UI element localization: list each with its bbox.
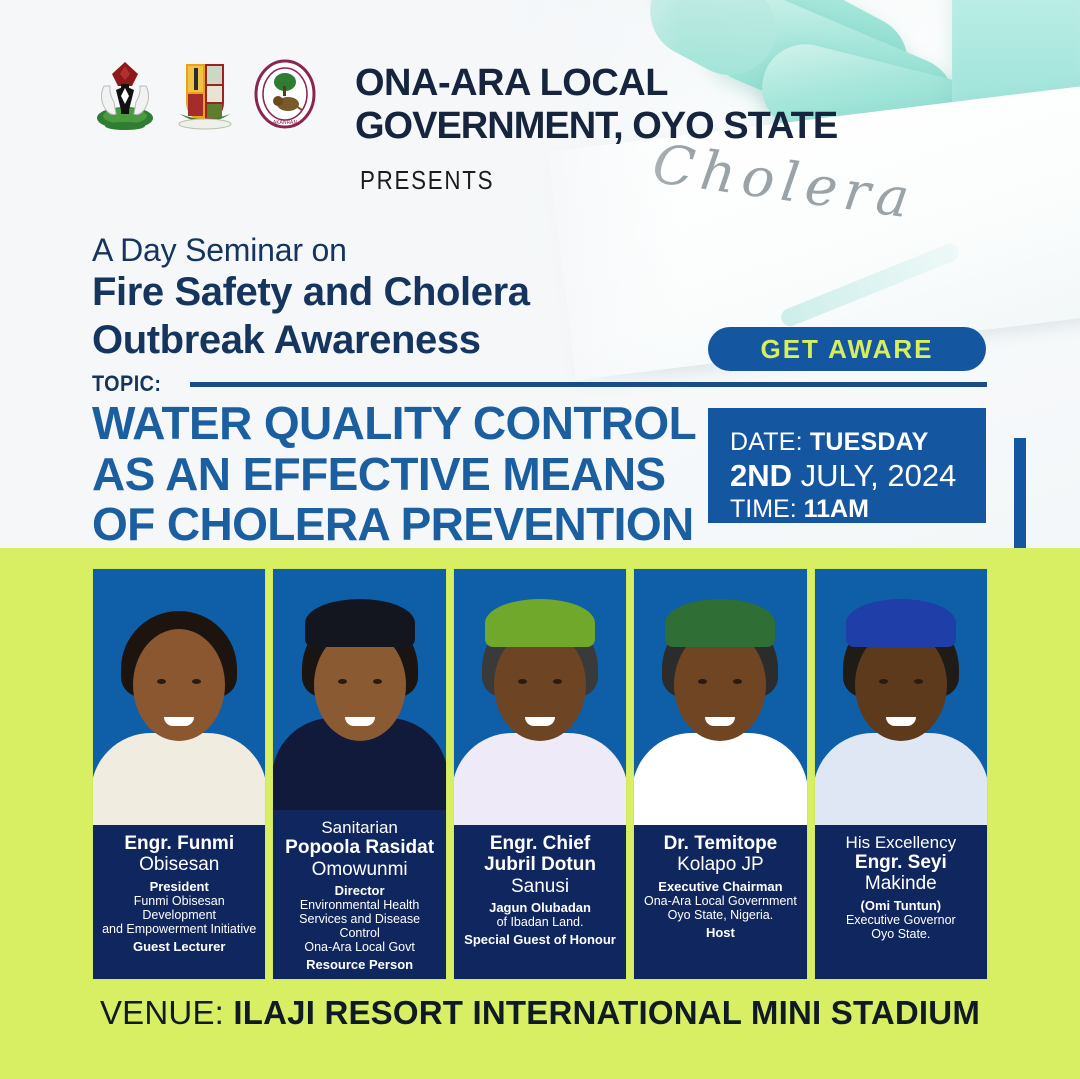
portrait-illustration bbox=[454, 569, 626, 825]
speaker-role-line: Environmental Health bbox=[277, 898, 441, 912]
speaker-list: Engr. FunmiObisesanPresidentFunmi Obises… bbox=[92, 568, 988, 980]
portrait-hat bbox=[305, 599, 415, 647]
topic-line3: OF CHOLERA PREVENTION bbox=[92, 499, 696, 550]
topic-line1: WATER QUALITY CONTROL bbox=[92, 398, 696, 449]
portrait-hat bbox=[485, 599, 595, 647]
portrait-illustration bbox=[634, 569, 806, 825]
speaker-caption: Engr. FunmiObisesanPresidentFunmi Obises… bbox=[93, 825, 265, 979]
organization-title: ONA-ARA LOCAL GOVERNMENT, OYO STATE bbox=[355, 62, 837, 148]
organization-title-line1: ONA-ARA LOCAL bbox=[355, 62, 837, 105]
speaker-prefix: Engr. Funmi bbox=[97, 833, 261, 854]
speaker-name: Engr. Seyi bbox=[819, 852, 983, 873]
speaker-photo-temitope-kolapo bbox=[634, 569, 806, 825]
date-ordinal: 2ND bbox=[730, 458, 801, 493]
portrait-eye-left bbox=[518, 679, 527, 684]
time-line: TIME: 11AM bbox=[730, 495, 986, 524]
svg-text:AKANRAN: AKANRAN bbox=[273, 120, 297, 126]
speaker-name: Popoola Rasidat bbox=[277, 837, 441, 858]
speaker-name-2: Omowunmi bbox=[277, 859, 441, 880]
speaker-card: Dr. TemitopeKolapo JPExecutive ChairmanO… bbox=[633, 568, 807, 980]
date-line: DATE: TUESDAY bbox=[730, 428, 986, 457]
date-day: TUESDAY bbox=[810, 428, 929, 456]
portrait-body bbox=[93, 733, 265, 825]
speaker-name-2: Sanusi bbox=[458, 876, 622, 897]
date-rest: JULY, 2024 bbox=[801, 458, 957, 493]
speaker-caption: SanitarianPopoola RasidatOmowunmiDirecto… bbox=[273, 810, 445, 979]
ona-ara-lg-seal-icon: AKANRAN bbox=[252, 56, 318, 132]
speaker-tag: Host bbox=[638, 926, 802, 941]
nigeria-coat-of-arms-icon bbox=[92, 56, 158, 132]
speaker-photo-popoola-rasidat bbox=[273, 569, 445, 810]
get-aware-badge[interactable]: GET AWARE bbox=[708, 327, 986, 371]
speaker-prefix: Engr. Chief bbox=[458, 833, 622, 854]
speaker-prefix: His Excellency bbox=[819, 833, 983, 852]
speaker-role-line: Oyo State, Nigeria. bbox=[638, 908, 802, 922]
speaker-name: Kolapo JP bbox=[638, 854, 802, 875]
topic-label: TOPIC: bbox=[92, 371, 161, 397]
speaker-name: Jubril Dotun bbox=[458, 854, 622, 875]
speaker-card: Engr. FunmiObisesanPresidentFunmi Obises… bbox=[92, 568, 266, 980]
time-value: 11AM bbox=[804, 495, 869, 523]
venue-bar: VENUE: ILAJI RESORT INTERNATIONAL MINI S… bbox=[0, 994, 1080, 1032]
portrait-body bbox=[634, 733, 806, 825]
speaker-prefix: Dr. Temitope bbox=[638, 833, 802, 854]
portrait-mouth bbox=[525, 717, 555, 726]
portrait-eye-right bbox=[373, 679, 382, 684]
speaker-caption: Dr. TemitopeKolapo JPExecutive ChairmanO… bbox=[634, 825, 806, 979]
speaker-role-line: Oyo State. bbox=[819, 927, 983, 941]
date-time-box: DATE: TUESDAY 2ND JULY, 2024 TIME: 11AM bbox=[708, 408, 986, 523]
portrait-body bbox=[815, 733, 987, 825]
portrait-eye-right bbox=[914, 679, 923, 684]
speaker-photo-jubril-dotun-sanusi bbox=[454, 569, 626, 825]
topic-divider bbox=[190, 382, 987, 387]
date-label: DATE: bbox=[730, 428, 810, 456]
organization-title-line2: GOVERNMENT, OYO STATE bbox=[355, 105, 837, 148]
speaker-card: SanitarianPopoola RasidatOmowunmiDirecto… bbox=[272, 568, 446, 980]
topic-text: WATER QUALITY CONTROL AS AN EFFECTIVE ME… bbox=[92, 398, 696, 550]
speaker-role-title: Director bbox=[277, 884, 441, 899]
speaker-tag: Special Guest of Honour bbox=[458, 933, 622, 948]
time-label: TIME: bbox=[730, 495, 804, 523]
oyo-state-seal-icon bbox=[172, 56, 238, 132]
portrait-mouth bbox=[345, 717, 375, 726]
seminar-title-line2: Outbreak Awareness bbox=[92, 316, 530, 364]
portrait-illustration bbox=[273, 569, 445, 810]
portrait-mouth bbox=[164, 717, 194, 726]
presents-label: PRESENTS bbox=[360, 165, 494, 196]
portrait-eye-left bbox=[338, 679, 347, 684]
speaker-card: His ExcellencyEngr. SeyiMakinde(Omi Tunt… bbox=[814, 568, 988, 980]
speaker-tag: Guest Lecturer bbox=[97, 940, 261, 955]
venue-value: ILAJI RESORT INTERNATIONAL MINI STADIUM bbox=[233, 994, 980, 1031]
speaker-card: Engr. ChiefJubril DotunSanusiJagun Oluba… bbox=[453, 568, 627, 980]
portrait-mouth bbox=[705, 717, 735, 726]
seminar-poster: Cholera bbox=[0, 0, 1080, 1079]
speaker-role-title: (Omi Tuntun) bbox=[819, 899, 983, 914]
portrait-eye-right bbox=[553, 679, 562, 684]
speaker-photo-funmi-obisesan bbox=[93, 569, 265, 825]
logo-row: AKANRAN bbox=[92, 56, 318, 132]
portrait-mouth bbox=[886, 717, 916, 726]
speaker-name: Obisesan bbox=[97, 854, 261, 875]
portrait-illustration bbox=[815, 569, 987, 825]
speaker-tag: Resource Person bbox=[277, 958, 441, 973]
seminar-subtitle: A Day Seminar on bbox=[92, 232, 347, 269]
speaker-caption: His ExcellencyEngr. SeyiMakinde(Omi Tunt… bbox=[815, 825, 987, 979]
portrait-hat bbox=[665, 599, 775, 647]
speaker-prefix: Sanitarian bbox=[277, 818, 441, 837]
speaker-role-line: Ona-Ara Local Govt bbox=[277, 940, 441, 954]
seminar-title-line1: Fire Safety and Cholera bbox=[92, 268, 530, 316]
speaker-name-2: Makinde bbox=[819, 873, 983, 894]
speaker-caption: Engr. ChiefJubril DotunSanusiJagun Oluba… bbox=[454, 825, 626, 979]
speaker-role-line: Ona-Ara Local Government bbox=[638, 894, 802, 908]
speaker-role-line: and Empowerment Initiative bbox=[97, 922, 261, 936]
speaker-role-title: President bbox=[97, 880, 261, 895]
topic-line2: AS AN EFFECTIVE MEANS bbox=[92, 449, 696, 500]
seminar-title: Fire Safety and Cholera Outbreak Awarene… bbox=[92, 268, 530, 364]
date-full-line: 2ND JULY, 2024 bbox=[730, 458, 986, 494]
venue-label: VENUE: bbox=[100, 994, 233, 1031]
speaker-role-line: Funmi Obisesan Development bbox=[97, 894, 261, 922]
speaker-role-line: Executive Governor bbox=[819, 913, 983, 927]
speaker-role-line: Services and Disease Control bbox=[277, 912, 441, 940]
speaker-role-title: Executive Chairman bbox=[638, 880, 802, 895]
speaker-role-line: of Ibadan Land. bbox=[458, 915, 622, 929]
speaker-photo-seyi-makinde bbox=[815, 569, 987, 825]
portrait-eye-left bbox=[879, 679, 888, 684]
portrait-hat bbox=[846, 599, 956, 647]
portrait-body bbox=[454, 733, 626, 825]
portrait-illustration bbox=[93, 569, 265, 825]
speaker-role-title: Jagun Olubadan bbox=[458, 901, 622, 916]
